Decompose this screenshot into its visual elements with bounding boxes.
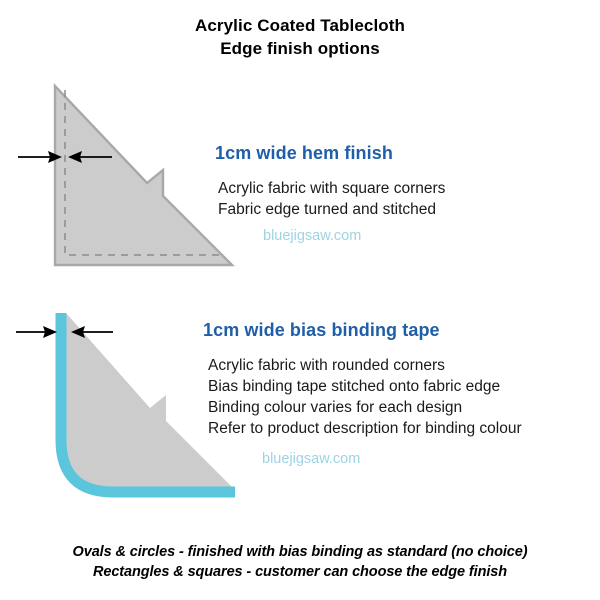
section-bias-line-1: Acrylic fabric with rounded corners xyxy=(208,355,600,376)
section-bias-text: 1cm wide bias binding tape Acrylic fabri… xyxy=(200,320,600,469)
binding-measure-arrow-left xyxy=(16,326,57,338)
section-bias-lines: Acrylic fabric with rounded corners Bias… xyxy=(200,355,600,439)
section-hem-lines: Acrylic fabric with square corners Fabri… xyxy=(205,178,600,220)
footer-note: Ovals & circles - finished with bias bin… xyxy=(0,542,600,582)
title-line-1: Acrylic Coated Tablecloth xyxy=(0,14,600,37)
page-title: Acrylic Coated Tablecloth Edge finish op… xyxy=(0,14,600,60)
section-hem-text: 1cm wide hem finish Acrylic fabric with … xyxy=(205,143,600,246)
section-hem-line-2: Fabric edge turned and stitched xyxy=(218,199,600,220)
footer-line-2: Rectangles & squares - customer can choo… xyxy=(0,562,600,582)
section-hem-heading: 1cm wide hem finish xyxy=(215,143,600,164)
watermark-hem: bluejigsaw.com xyxy=(205,226,600,246)
footer-line-1: Ovals & circles - finished with bias bin… xyxy=(0,542,600,562)
section-hem-line-1: Acrylic fabric with square corners xyxy=(218,178,600,199)
watermark-bias: bluejigsaw.com xyxy=(200,449,600,469)
title-line-2: Edge finish options xyxy=(0,37,600,60)
section-bias-line-3: Binding colour varies for each design xyxy=(208,397,600,418)
section-bias-line-2: Bias binding tape stitched onto fabric e… xyxy=(208,376,600,397)
section-bias-heading: 1cm wide bias binding tape xyxy=(203,320,600,341)
section-bias-line-4: Refer to product description for binding… xyxy=(208,418,600,439)
diagram-page: Acrylic Coated Tablecloth Edge finish op… xyxy=(0,0,600,600)
